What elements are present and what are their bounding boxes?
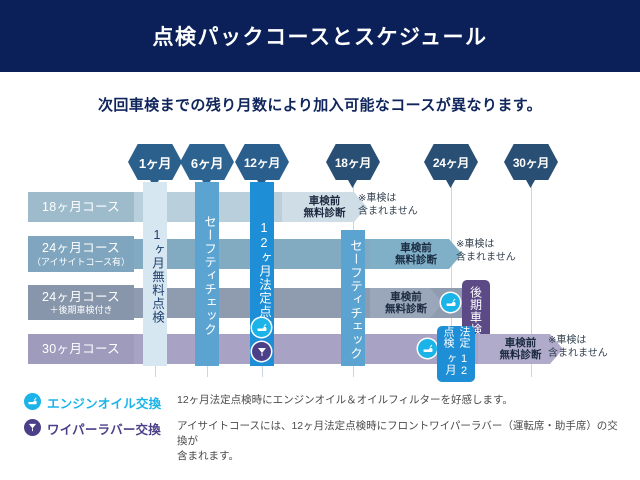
chip-label: 車検前 無料診断 (500, 337, 542, 362)
legend-item-wiper-rubber: ワイパーラバー交換 アイサイトコースには、12ヶ月法定点検時にフロントワイパーラ… (24, 419, 624, 465)
timeline-marker-label: 24ヶ月 (433, 154, 469, 171)
timeline-marker-6m: 6ヶ月 (180, 144, 234, 180)
service-column-safety-check-6m: セーフティチェック (195, 182, 219, 366)
engine-oil-icon (418, 339, 437, 358)
pre-inspection-chip-18m: 車検前 無料診断 (282, 192, 367, 222)
service-column-1m-free-check: 1ヶ月無料点検 (143, 182, 167, 366)
service-column-safety-check-18m: セーフティチェック (341, 230, 365, 366)
timeline-marker-30m: 30ヶ月 (504, 144, 558, 180)
service-column-label: セーフティチェック (346, 239, 365, 361)
service-column-label: 1ヶ月無料点検 (148, 228, 167, 324)
service-column-12m-legal-check: 12ヶ月法定点検 (250, 182, 274, 366)
timeline-marker-label: 6ヶ月 (191, 153, 223, 172)
legend-description: 12ヶ月法定点検時にエンジンオイル＆オイルフィルターを好感します。 (177, 393, 513, 408)
timeline-marker-24m: 24ヶ月 (424, 144, 478, 180)
timeline-stem-24m (446, 180, 455, 188)
note-no-shaken-30m: ※車検は 含まれません (548, 334, 638, 360)
chip-label: 車検前 無料診断 (385, 291, 427, 316)
note-no-shaken-24m: ※車検は 含まれません (456, 238, 546, 264)
row-label-24m-late: 24ヶ月コース ＋後期車検付き (28, 285, 134, 320)
timeline-marker-label: 18ヶ月 (335, 154, 371, 171)
timeline-stem-18m (348, 180, 357, 188)
row-label-line1: 18ヶ月コース (42, 200, 120, 214)
schedule-chart: 1ヶ月 6ヶ月 12ヶ月 18ヶ月 24ヶ月 30ヶ月 18ヶ月コース 車検前 … (0, 130, 640, 382)
row-label-30m: 30ヶ月コース (28, 334, 134, 364)
row-label-18m: 18ヶ月コース (28, 192, 134, 222)
legal-check-sub: 12ヶ月 (442, 353, 470, 382)
page-header: 点検パックコースとスケジュール (0, 0, 640, 72)
wiper-rubber-icon (252, 342, 271, 361)
chip-label: 車検前 無料診断 (395, 242, 437, 267)
pre-inspection-chip-24m-eyesight: 車検前 無料診断 (370, 239, 462, 269)
legend: エンジンオイル交換 12ヶ月法定点検時にエンジンオイル＆オイルフィルターを好感し… (24, 393, 624, 472)
timeline-stem-30m (526, 180, 535, 188)
legend-term: ワイパーラバー交換 (47, 419, 175, 438)
legal-check-box: 法定点検 12ヶ月 (437, 326, 475, 382)
timeline-marker-18m: 18ヶ月 (326, 144, 380, 180)
legend-item-engine-oil: エンジンオイル交換 12ヶ月法定点検時にエンジンオイル＆オイルフィルターを好感し… (24, 393, 624, 412)
engine-oil-icon (252, 318, 271, 337)
row-label-line1: 24ヶ月コース (42, 241, 120, 255)
row-label-line1: 30ヶ月コース (42, 342, 120, 356)
legal-check-label: 法定点検 (440, 326, 472, 353)
note-no-shaken-18m: ※車検は 含まれません (358, 192, 448, 218)
row-label-line1: 24ヶ月コース (42, 290, 120, 304)
page-title: 点検パックコースとスケジュール (153, 21, 488, 51)
row-label-line2: （アイサイトコース有） (32, 257, 130, 267)
chip-label: 車検前 無料診断 (304, 195, 346, 220)
row-label-line2: ＋後期車検付き (49, 305, 112, 315)
engine-oil-icon (441, 293, 460, 312)
service-column-label: 12ヶ月法定点検 (255, 221, 274, 332)
service-column-label: セーフティチェック (200, 215, 219, 337)
row-label-24m-eyesight: 24ヶ月コース （アイサイトコース有） (28, 236, 134, 272)
timeline-marker-12m: 12ヶ月 (235, 144, 289, 180)
pre-inspection-chip-24m-late: 車検前 無料診断 (370, 288, 442, 318)
subtitle: 次回車検までの残り月数により加入可能なコースが異なります。 (0, 94, 640, 115)
timeline-marker-1m: 1ヶ月 (128, 144, 182, 180)
timeline-marker-label: 30ヶ月 (513, 154, 549, 171)
wiper-rubber-icon (24, 419, 41, 436)
legend-term: エンジンオイル交換 (47, 393, 175, 412)
engine-oil-icon (24, 393, 41, 410)
timeline-marker-label: 1ヶ月 (139, 153, 171, 172)
timeline-marker-label: 12ヶ月 (244, 154, 280, 171)
legend-description: アイサイトコースには、12ヶ月法定点検時にフロントワイパーラバー（運転席・助手席… (177, 419, 624, 465)
